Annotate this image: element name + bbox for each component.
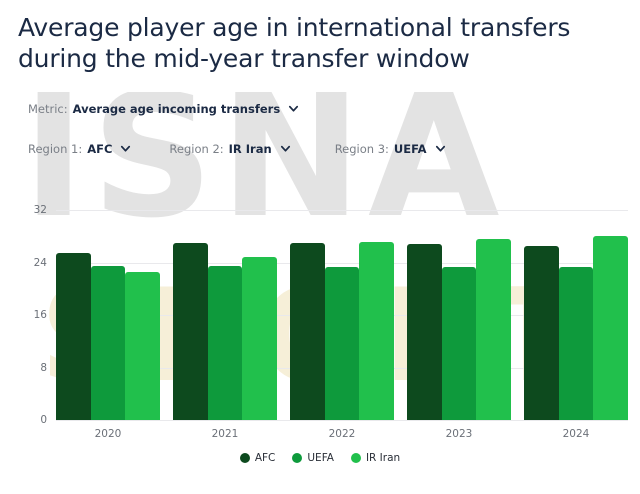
gridline: 0 (56, 420, 628, 421)
bar-uefa-2022[interactable] (325, 267, 360, 420)
y-axis-tick-label: 32 (34, 204, 47, 216)
legend-label: UEFA (307, 452, 334, 464)
y-axis-tick-label: 16 (34, 309, 47, 321)
legend-item-uefa[interactable]: UEFA (292, 452, 334, 464)
bar-uefa-2021[interactable] (208, 266, 243, 420)
chevron-down-icon[interactable] (435, 143, 446, 154)
bar-group: 2022 (290, 210, 394, 420)
legend-label: AFC (255, 452, 276, 464)
legend-dot-icon (292, 453, 302, 463)
chevron-down-icon[interactable] (288, 103, 299, 114)
legend-dot-icon (351, 453, 361, 463)
bar-afc-2020[interactable] (56, 253, 91, 420)
bar-ir-iran-2024[interactable] (593, 236, 628, 420)
y-axis-tick-label: 8 (40, 362, 47, 374)
region-2-label: Region 2: (169, 142, 223, 156)
chart-legend: AFCUEFAIR Iran (0, 452, 640, 464)
metric-dropdown[interactable]: Metric: Average age incoming transfers (28, 102, 299, 116)
region-1-label: Region 1: (28, 142, 82, 156)
metric-row: Metric: Average age incoming transfers (0, 92, 640, 126)
bar-uefa-2020[interactable] (91, 266, 126, 420)
bar-ir-iran-2023[interactable] (476, 239, 511, 420)
title-line-1: Average player age in international tran… (18, 12, 622, 43)
region-3-value: UEFA (394, 142, 427, 156)
chart-card: ISNA SPORT Metric: Average age incoming … (0, 92, 640, 494)
region-2-value: IR Iran (229, 142, 272, 156)
bar-ir-iran-2020[interactable] (125, 272, 160, 420)
y-axis-tick-label: 24 (34, 257, 47, 269)
metric-value: Average age incoming transfers (73, 102, 281, 116)
plot-area: 08162432 20202021202220232024 (56, 210, 628, 420)
chevron-down-icon[interactable] (120, 143, 131, 154)
title-line-2: during the mid-year transfer window (18, 43, 622, 74)
bar-uefa-2024[interactable] (559, 267, 594, 420)
region-2-dropdown[interactable]: Region 2: IR Iran (169, 142, 290, 156)
region-1-dropdown[interactable]: Region 1: AFC (28, 142, 131, 156)
page-title: Average player age in international tran… (0, 0, 640, 74)
x-axis-tick-label: 2020 (56, 428, 160, 440)
bar-group: 2020 (56, 210, 160, 420)
bar-afc-2023[interactable] (407, 244, 442, 420)
bar-group: 2021 (173, 210, 277, 420)
region-3-label: Region 3: (335, 142, 389, 156)
bar-ir-iran-2021[interactable] (242, 257, 277, 420)
bar-groups: 20202021202220232024 (56, 210, 628, 420)
bar-afc-2024[interactable] (524, 246, 559, 420)
x-axis-tick-label: 2023 (407, 428, 511, 440)
legend-label: IR Iran (366, 452, 400, 464)
filter-controls: Metric: Average age incoming transfers R… (0, 92, 640, 166)
bar-group: 2023 (407, 210, 511, 420)
legend-dot-icon (240, 453, 250, 463)
bar-uefa-2023[interactable] (442, 267, 477, 420)
bar-afc-2022[interactable] (290, 243, 325, 420)
x-axis-tick-label: 2024 (524, 428, 628, 440)
region-row: Region 1: AFC Region 2: IR Iran Region 3… (0, 132, 640, 166)
legend-item-ir-iran[interactable]: IR Iran (351, 452, 400, 464)
x-axis-tick-label: 2021 (173, 428, 277, 440)
chevron-down-icon[interactable] (280, 143, 291, 154)
bar-ir-iran-2022[interactable] (359, 242, 394, 421)
y-axis-tick-label: 0 (40, 414, 47, 426)
x-axis-tick-label: 2022 (290, 428, 394, 440)
region-1-value: AFC (87, 142, 112, 156)
metric-label: Metric: (28, 102, 68, 116)
bar-afc-2021[interactable] (173, 243, 208, 420)
bar-group: 2024 (524, 210, 628, 420)
legend-item-afc[interactable]: AFC (240, 452, 276, 464)
region-3-dropdown[interactable]: Region 3: UEFA (335, 142, 446, 156)
